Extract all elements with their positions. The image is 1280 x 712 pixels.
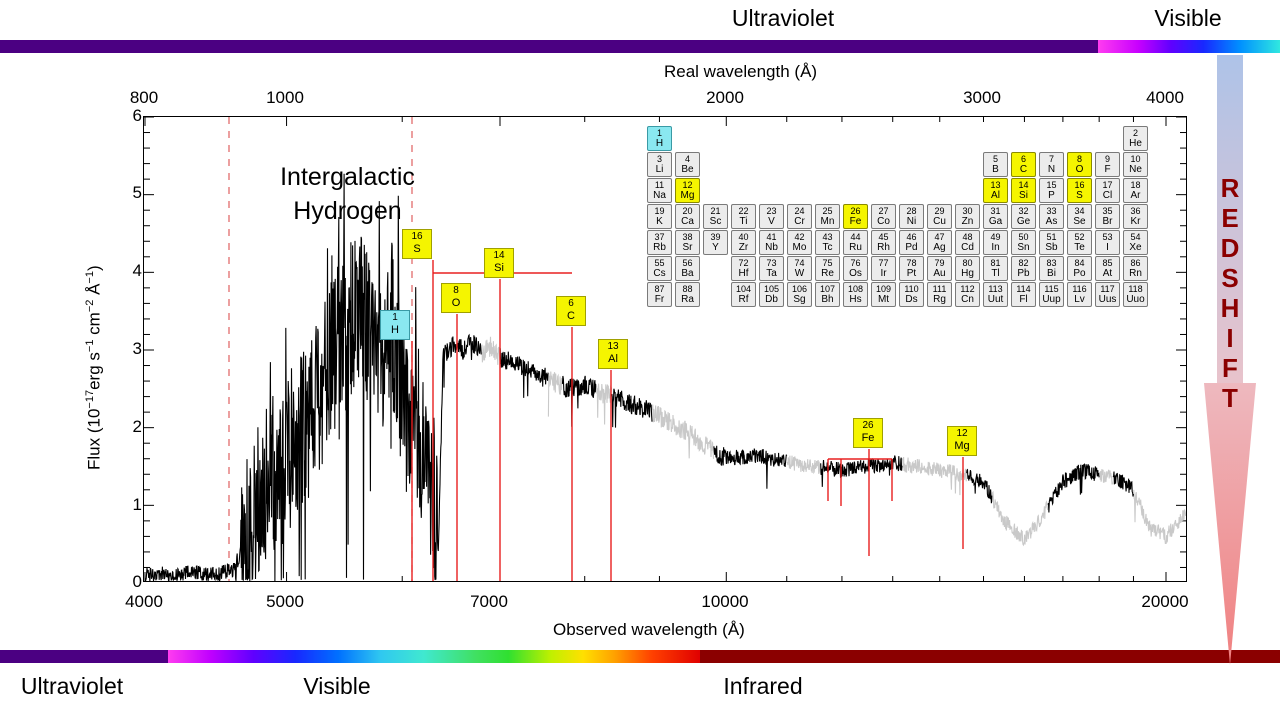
- periodic-element-bh: 107Bh: [815, 282, 840, 307]
- periodic-element-h: 1H: [647, 126, 672, 151]
- element-symbol: P: [1040, 190, 1063, 201]
- periodic-element-ti: 22Ti: [731, 204, 756, 229]
- periodic-element-hs: 108Hs: [843, 282, 868, 307]
- element-number: 83: [1040, 258, 1063, 268]
- periodic-element-uus: 117Uus: [1095, 282, 1120, 307]
- periodic-element-sr: 38Sr: [675, 230, 700, 255]
- periodic-element-rb: 37Rb: [647, 230, 672, 255]
- element-symbol: Fr: [648, 294, 671, 305]
- element-symbol: Sc: [704, 216, 727, 227]
- element-number: 13: [984, 180, 1007, 190]
- element-symbol: Sn: [1012, 242, 1035, 253]
- periodic-element-ir: 77Ir: [871, 256, 896, 281]
- element-symbol: Cu: [928, 216, 951, 227]
- element-symbol: Pb: [1012, 268, 1035, 279]
- colorbar-bottom-uv-segment: [0, 650, 168, 663]
- element-number: 28: [900, 206, 923, 216]
- top-tick-1000: 1000: [266, 88, 304, 108]
- redshift-letter: S: [1204, 263, 1256, 293]
- element-number: 85: [1096, 258, 1119, 268]
- element-symbol: Si: [1012, 190, 1035, 201]
- element-symbol: Cn: [956, 294, 979, 305]
- periodic-element-uut: 113Uut: [983, 282, 1008, 307]
- element-number: 6: [1012, 154, 1035, 164]
- element-symbol: Po: [1068, 268, 1091, 279]
- top-tick-2000: 2000: [706, 88, 744, 108]
- element-symbol: Lv: [1068, 294, 1091, 305]
- element-number: 32: [1012, 206, 1035, 216]
- element-number: 113: [984, 284, 1007, 294]
- element-symbol: Cr: [788, 216, 811, 227]
- element-symbol: N: [1040, 164, 1063, 175]
- redshift-letter: D: [1204, 233, 1256, 263]
- element-number: 18: [1124, 180, 1147, 190]
- bottom-tick-10000: 10000: [701, 592, 748, 612]
- element-number: 78: [900, 258, 923, 268]
- periodic-element-sb: 51Sb: [1039, 230, 1064, 255]
- band-label-ultraviolet-bottom: Ultraviolet: [21, 675, 123, 698]
- element-symbol: C: [1012, 164, 1035, 175]
- periodic-element-ba: 56Ba: [675, 256, 700, 281]
- periodic-element-c: 6C: [1011, 152, 1036, 177]
- element-number: 52: [1068, 232, 1091, 242]
- periodic-element-k: 19K: [647, 204, 672, 229]
- periodic-element-al: 13Al: [983, 178, 1008, 203]
- periodic-element-na: 11Na: [647, 178, 672, 203]
- element-symbol: Hf: [732, 268, 755, 279]
- periodic-element-as: 33As: [1039, 204, 1064, 229]
- element-number: 76: [844, 258, 867, 268]
- periodic-element-cs: 55Cs: [647, 256, 672, 281]
- element-number: 37: [648, 232, 671, 242]
- spectrum-trace-grey: [482, 337, 1186, 545]
- element-number: 49: [984, 232, 1007, 242]
- element-symbol: K: [648, 216, 671, 227]
- redshift-arrow: REDSHIFT: [1204, 55, 1256, 665]
- periodic-element-tc: 43Tc: [815, 230, 840, 255]
- periodic-element-rg: 111Rg: [927, 282, 952, 307]
- element-symbol: V: [760, 216, 783, 227]
- element-marker-stems: [412, 260, 963, 581]
- element-symbol: Na: [648, 190, 671, 201]
- element-number: 8: [1068, 154, 1091, 164]
- element-symbol: F: [1096, 164, 1119, 175]
- periodic-element-b: 5B: [983, 152, 1008, 177]
- top-axis-title: Real wavelength (Å): [664, 62, 817, 82]
- y-axis-ticklabels: 6 5 4 3 2 1 0: [112, 0, 142, 600]
- element-number: 82: [1012, 258, 1035, 268]
- element-number: 7: [1040, 154, 1063, 164]
- periodic-element-w: 74W: [787, 256, 812, 281]
- y-tick-3: 3: [133, 339, 142, 359]
- element-symbol: Tl: [984, 268, 1007, 279]
- periodic-element-pt: 78Pt: [899, 256, 924, 281]
- periodic-element-zn: 30Zn: [955, 204, 980, 229]
- periodic-element-at: 85At: [1095, 256, 1120, 281]
- periodic-element-os: 76Os: [843, 256, 868, 281]
- periodic-element-ra: 88Ra: [675, 282, 700, 307]
- band-label-visible-bottom: Visible: [303, 675, 370, 698]
- redshift-letter: H: [1204, 293, 1256, 323]
- periodic-element-zr: 40Zr: [731, 230, 756, 255]
- periodic-element-br: 35Br: [1095, 204, 1120, 229]
- element-symbol: Cl: [1096, 190, 1119, 201]
- element-symbol: B: [984, 164, 1007, 175]
- periodic-element-ga: 31Ga: [983, 204, 1008, 229]
- periodic-element-pb: 82Pb: [1011, 256, 1036, 281]
- element-number: 15: [1040, 180, 1063, 190]
- element-symbol: Ru: [844, 242, 867, 253]
- element-number: 36: [1124, 206, 1147, 216]
- element-number: 29: [928, 206, 951, 216]
- element-symbol: Mn: [816, 216, 839, 227]
- element-symbol: Ir: [872, 268, 895, 279]
- element-symbol: Hg: [956, 268, 979, 279]
- element-number: 74: [788, 258, 811, 268]
- element-number: 12: [676, 180, 699, 190]
- element-symbol: O: [1068, 164, 1091, 175]
- element-symbol: Ba: [676, 268, 699, 279]
- top-axis-ticklabels: 800 1000 2000 3000 4000: [0, 88, 1280, 108]
- element-number: 25: [816, 206, 839, 216]
- element-number: 77: [872, 258, 895, 268]
- periodic-element-li: 3Li: [647, 152, 672, 177]
- element-number: 88: [676, 284, 699, 294]
- element-symbol: Nb: [760, 242, 783, 253]
- spectrum-colorbar-top: [0, 40, 1280, 53]
- element-number: 116: [1068, 284, 1091, 294]
- element-symbol: Ag: [928, 242, 951, 253]
- element-number: 4: [676, 154, 699, 164]
- periodic-element-nb: 41Nb: [759, 230, 784, 255]
- redshift-letter: I: [1204, 323, 1256, 353]
- periodic-element-s: 16S: [1067, 178, 1092, 203]
- periodic-element-ne: 10Ne: [1123, 152, 1148, 177]
- element-symbol: Ti: [732, 216, 755, 227]
- periodic-element-ds: 110Ds: [899, 282, 924, 307]
- periodic-element-fe: 26Fe: [843, 204, 868, 229]
- element-symbol: Mg: [676, 190, 699, 201]
- element-number: 5: [984, 154, 1007, 164]
- periodic-element-db: 105Db: [759, 282, 784, 307]
- periodic-element-fl: 114Fl: [1011, 282, 1036, 307]
- bottom-tick-4000: 4000: [125, 592, 163, 612]
- element-symbol: Au: [928, 268, 951, 279]
- element-symbol: Tc: [816, 242, 839, 253]
- element-symbol: Ra: [676, 294, 699, 305]
- periodic-element-sc: 21Sc: [703, 204, 728, 229]
- periodic-element-tl: 81Tl: [983, 256, 1008, 281]
- periodic-element-uuo: 118Uuo: [1123, 282, 1148, 307]
- element-symbol: Kr: [1124, 216, 1147, 227]
- bottom-tick-7000: 7000: [470, 592, 508, 612]
- element-symbol: Fe: [844, 216, 867, 227]
- intergalactic-hydrogen-annotation: Intergalactic Hydrogen: [240, 160, 455, 228]
- top-tick-4000: 4000: [1146, 88, 1184, 108]
- element-number: 34: [1068, 206, 1091, 216]
- band-label-infrared-bottom: Infrared: [723, 675, 802, 698]
- redshift-arrow-label: REDSHIFT: [1204, 173, 1256, 413]
- element-number: 107: [816, 284, 839, 294]
- element-number: 9: [1096, 154, 1119, 164]
- periodic-element-co: 27Co: [871, 204, 896, 229]
- element-symbol: Sr: [676, 242, 699, 253]
- element-number: 114: [1012, 284, 1035, 294]
- periodic-element-po: 84Po: [1067, 256, 1092, 281]
- element-number: 115: [1040, 284, 1063, 294]
- periodic-element-cu: 29Cu: [927, 204, 952, 229]
- element-number: 31: [984, 206, 1007, 216]
- element-symbol: Al: [984, 190, 1007, 201]
- element-symbol: At: [1096, 268, 1119, 279]
- element-symbol: Ne: [1124, 164, 1147, 175]
- element-number: 84: [1068, 258, 1091, 268]
- periodic-element-ge: 32Ge: [1011, 204, 1036, 229]
- periodic-element-uup: 115Uup: [1039, 282, 1064, 307]
- periodic-element-si: 14Si: [1011, 178, 1036, 203]
- element-number: 22: [732, 206, 755, 216]
- periodic-element-ru: 44Ru: [843, 230, 868, 255]
- periodic-element-re: 75Re: [815, 256, 840, 281]
- element-number: 118: [1124, 284, 1147, 294]
- element-symbol: Te: [1068, 242, 1091, 253]
- element-number: 109: [872, 284, 895, 294]
- bottom-axis-title: Observed wavelength (Å): [553, 620, 745, 640]
- element-symbol: Bh: [816, 294, 839, 305]
- element-number: 106: [788, 284, 811, 294]
- element-symbol: Ar: [1124, 190, 1147, 201]
- element-symbol: Co: [872, 216, 895, 227]
- element-symbol: Cd: [956, 242, 979, 253]
- periodic-element-ag: 47Ag: [927, 230, 952, 255]
- element-number: 47: [928, 232, 951, 242]
- element-number: 10: [1124, 154, 1147, 164]
- periodic-element-f: 9F: [1095, 152, 1120, 177]
- element-symbol: Cs: [648, 268, 671, 279]
- periodic-element-ta: 73Ta: [759, 256, 784, 281]
- element-symbol: Mo: [788, 242, 811, 253]
- periodic-element-o: 8O: [1067, 152, 1092, 177]
- element-symbol: Uuo: [1124, 294, 1147, 305]
- element-symbol: Ni: [900, 216, 923, 227]
- element-number: 39: [704, 232, 727, 242]
- periodic-element-fr: 87Fr: [647, 282, 672, 307]
- element-number: 41: [760, 232, 783, 242]
- bottom-axis-ticklabels: 4000 5000 7000 10000 20000: [0, 592, 1280, 614]
- element-symbol: Re: [816, 268, 839, 279]
- redshift-letter: F: [1204, 353, 1256, 383]
- element-symbol: Ga: [984, 216, 1007, 227]
- element-symbol: H: [648, 138, 671, 149]
- element-number: 87: [648, 284, 671, 294]
- element-number: 26: [844, 206, 867, 216]
- element-number: 42: [788, 232, 811, 242]
- periodic-element-in: 49In: [983, 230, 1008, 255]
- periodic-element-cr: 24Cr: [787, 204, 812, 229]
- colorbar-bottom-infrared-segment: [700, 650, 1280, 663]
- element-symbol: Br: [1096, 216, 1119, 227]
- element-symbol: Rb: [648, 242, 671, 253]
- element-symbol: S: [1068, 190, 1091, 201]
- periodic-element-he: 2He: [1123, 126, 1148, 151]
- element-number: 55: [648, 258, 671, 268]
- element-number: 14: [1012, 180, 1035, 190]
- periodic-element-mg: 12Mg: [675, 178, 700, 203]
- element-symbol: Ta: [760, 268, 783, 279]
- periodic-element-ar: 18Ar: [1123, 178, 1148, 203]
- element-number: 17: [1096, 180, 1119, 190]
- element-number: 33: [1040, 206, 1063, 216]
- element-number: 75: [816, 258, 839, 268]
- element-number: 1: [648, 128, 671, 138]
- redshift-arrow-head: [1204, 383, 1256, 665]
- periodic-element-se: 34Se: [1067, 204, 1092, 229]
- periodic-element-sn: 50Sn: [1011, 230, 1036, 255]
- element-symbol: He: [1124, 138, 1147, 149]
- redshift-letter: T: [1204, 383, 1256, 413]
- element-symbol: W: [788, 268, 811, 279]
- element-number: 16: [1068, 180, 1091, 190]
- element-number: 30: [956, 206, 979, 216]
- element-symbol: Fl: [1012, 294, 1035, 305]
- periodic-element-y: 39Y: [703, 230, 728, 255]
- element-number: 19: [648, 206, 671, 216]
- element-number: 20: [676, 206, 699, 216]
- element-number: 43: [816, 232, 839, 242]
- y-tick-0: 0: [133, 572, 142, 592]
- element-number: 86: [1124, 258, 1147, 268]
- element-symbol: Db: [760, 294, 783, 305]
- periodic-element-sg: 106Sg: [787, 282, 812, 307]
- element-number: 54: [1124, 232, 1147, 242]
- element-symbol: Sb: [1040, 242, 1063, 253]
- element-number: 38: [676, 232, 699, 242]
- periodic-element-mt: 109Mt: [871, 282, 896, 307]
- element-number: 51: [1040, 232, 1063, 242]
- element-symbol: Pd: [900, 242, 923, 253]
- element-symbol: Sg: [788, 294, 811, 305]
- element-symbol: Li: [648, 164, 671, 175]
- element-number: 104: [732, 284, 755, 294]
- element-symbol: Ge: [1012, 216, 1035, 227]
- element-number: 72: [732, 258, 755, 268]
- y-tick-5: 5: [133, 183, 142, 203]
- periodic-element-au: 79Au: [927, 256, 952, 281]
- periodic-element-hf: 72Hf: [731, 256, 756, 281]
- element-number: 35: [1096, 206, 1119, 216]
- element-number: 105: [760, 284, 783, 294]
- element-symbol: As: [1040, 216, 1063, 227]
- element-number: 110: [900, 284, 923, 294]
- element-symbol: Uus: [1096, 294, 1119, 305]
- top-tick-3000: 3000: [963, 88, 1001, 108]
- element-symbol: Se: [1068, 216, 1091, 227]
- element-number: 79: [928, 258, 951, 268]
- element-symbol: Rg: [928, 294, 951, 305]
- element-symbol: Ds: [900, 294, 923, 305]
- element-symbol: Be: [676, 164, 699, 175]
- periodic-element-ni: 28Ni: [899, 204, 924, 229]
- element-symbol: Uup: [1040, 294, 1063, 305]
- element-symbol: Rn: [1124, 268, 1147, 279]
- element-number: 2: [1124, 128, 1147, 138]
- element-number: 24: [788, 206, 811, 216]
- redshift-letter: R: [1204, 173, 1256, 203]
- periodic-element-mo: 42Mo: [787, 230, 812, 255]
- element-number: 108: [844, 284, 867, 294]
- element-symbol: Y: [704, 242, 727, 253]
- element-number: 80: [956, 258, 979, 268]
- bottom-tick-5000: 5000: [266, 592, 304, 612]
- element-symbol: Pt: [900, 268, 923, 279]
- periodic-element-i: 53I: [1095, 230, 1120, 255]
- element-number: 23: [760, 206, 783, 216]
- element-symbol: Hs: [844, 294, 867, 305]
- periodic-element-mn: 25Mn: [815, 204, 840, 229]
- periodic-element-kr: 36Kr: [1123, 204, 1148, 229]
- y-tick-1: 1: [133, 495, 142, 515]
- element-number: 81: [984, 258, 1007, 268]
- y-tick-6: 6: [133, 106, 142, 126]
- periodic-element-pd: 46Pd: [899, 230, 924, 255]
- igm-line-2: Hydrogen: [240, 194, 455, 228]
- element-symbol: Ca: [676, 216, 699, 227]
- element-symbol: Rf: [732, 294, 755, 305]
- periodic-element-cd: 48Cd: [955, 230, 980, 255]
- periodic-element-xe: 54Xe: [1123, 230, 1148, 255]
- element-number: 56: [676, 258, 699, 268]
- y-axis-title: Flux (10−17erg s−1 cm−2 Å−1): [84, 265, 105, 470]
- element-symbol: In: [984, 242, 1007, 253]
- element-symbol: Uut: [984, 294, 1007, 305]
- colorbar-bottom-visible-segment: [168, 650, 700, 663]
- periodic-element-n: 7N: [1039, 152, 1064, 177]
- y-tick-2: 2: [133, 417, 142, 437]
- element-number: 3: [648, 154, 671, 164]
- element-symbol: Os: [844, 268, 867, 279]
- bottom-tick-20000: 20000: [1141, 592, 1188, 612]
- periodic-element-v: 23V: [759, 204, 784, 229]
- element-symbol: I: [1096, 242, 1119, 253]
- periodic-element-rf: 104Rf: [731, 282, 756, 307]
- element-symbol: Rh: [872, 242, 895, 253]
- element-symbol: Mt: [872, 294, 895, 305]
- periodic-element-cn: 112Cn: [955, 282, 980, 307]
- element-symbol: Zr: [732, 242, 755, 253]
- element-number: 40: [732, 232, 755, 242]
- element-number: 11: [648, 180, 671, 190]
- spectrum-colorbar-bottom: [0, 650, 1280, 663]
- element-number: 45: [872, 232, 895, 242]
- periodic-element-te: 52Te: [1067, 230, 1092, 255]
- element-number: 111: [928, 284, 951, 294]
- element-number: 44: [844, 232, 867, 242]
- periodic-element-be: 4Be: [675, 152, 700, 177]
- element-number: 48: [956, 232, 979, 242]
- element-symbol: Bi: [1040, 268, 1063, 279]
- redshift-letter: E: [1204, 203, 1256, 233]
- periodic-element-hg: 80Hg: [955, 256, 980, 281]
- element-number: 46: [900, 232, 923, 242]
- element-number: 112: [956, 284, 979, 294]
- igm-line-1: Intergalactic: [240, 160, 455, 194]
- element-number: 73: [760, 258, 783, 268]
- colorbar-top-uv-segment: [0, 40, 1098, 53]
- element-number: 21: [704, 206, 727, 216]
- periodic-element-bi: 83Bi: [1039, 256, 1064, 281]
- element-number: 117: [1096, 284, 1119, 294]
- periodic-element-p: 15P: [1039, 178, 1064, 203]
